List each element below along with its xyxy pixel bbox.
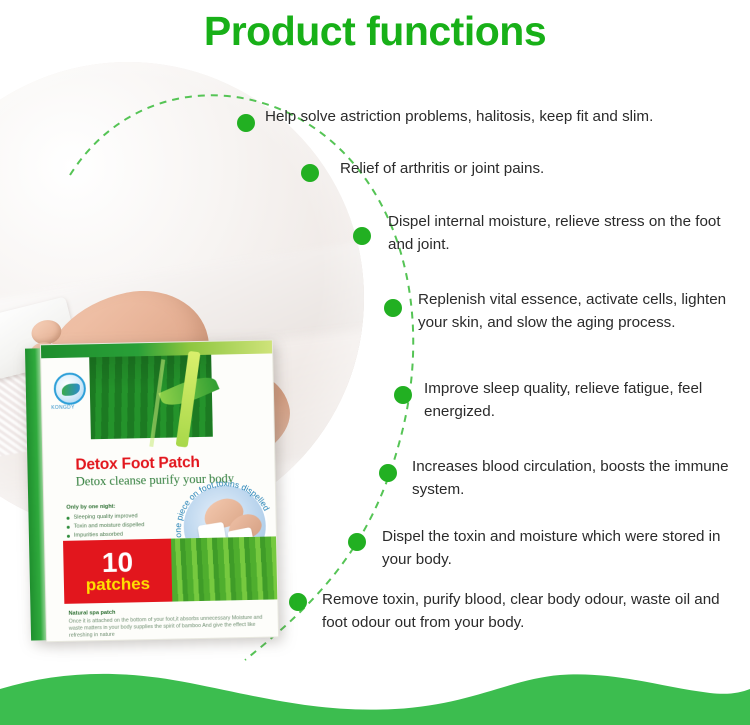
bottom-wave-decoration xyxy=(0,653,750,725)
benefit-item-8: Remove toxin, purify blood, clear body o… xyxy=(322,588,742,634)
benefit-item-7: Dispel the toxin and moisture which were… xyxy=(382,525,744,571)
benefit-item-5: Improve sleep quality, relieve fatigue, … xyxy=(424,377,744,423)
benefit-item-4: Replenish vital essence, activate cells,… xyxy=(418,288,740,334)
benefit-item-2: Relief of arthritis or joint pains. xyxy=(340,157,740,180)
infographic-page: Product functions xyxy=(0,0,750,725)
benefit-item-6: Increases blood circulation, boosts the … xyxy=(412,455,742,501)
benefit-item-1: Help solve astriction problems, halitosi… xyxy=(265,105,745,128)
wave-path xyxy=(0,674,750,725)
benefit-item-3: Dispel internal moisture, relieve stress… xyxy=(388,210,736,256)
benefit-list: Help solve astriction problems, halitosi… xyxy=(0,0,750,725)
